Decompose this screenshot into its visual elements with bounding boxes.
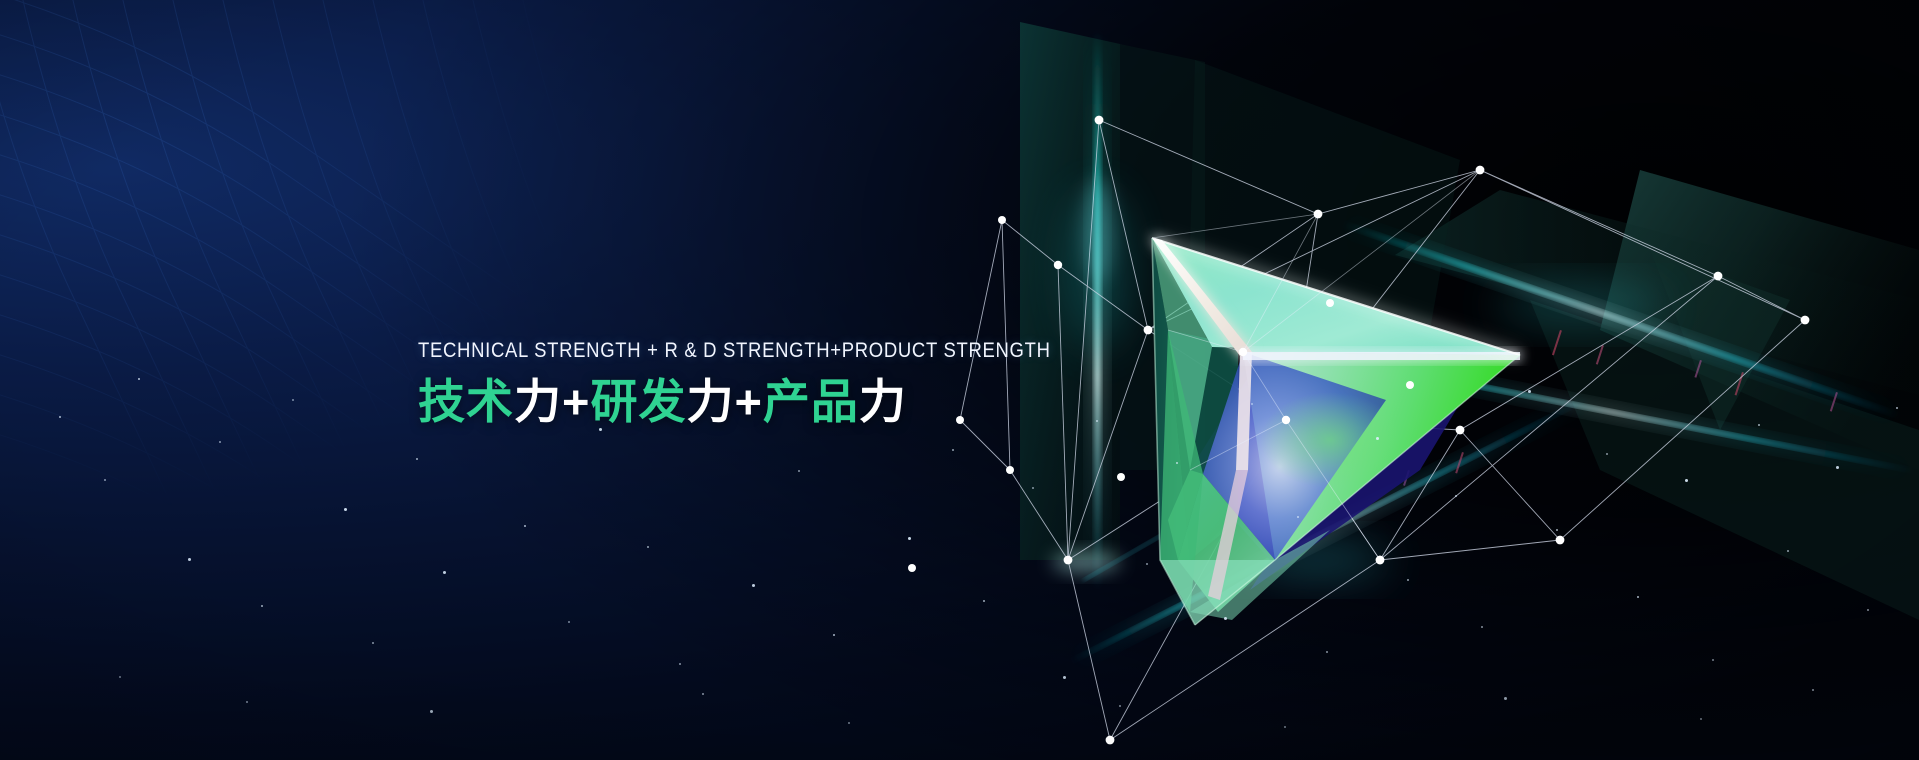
hero-banner: TECHNICAL STRENGTH + R & D STRENGTH+PROD… [0, 0, 1919, 760]
headline-chinese-segment: 力 [859, 375, 907, 428]
headline-chinese: 技术力+研发力+产品力 [418, 376, 1178, 429]
headline-chinese-segment: 力 [514, 375, 562, 428]
headline-chinese-segment: + [734, 375, 762, 428]
headline-block: TECHNICAL STRENGTH + R & D STRENGTH+PROD… [418, 340, 1178, 428]
headline-english: TECHNICAL STRENGTH + R & D STRENGTH+PROD… [418, 340, 1072, 362]
headline-chinese-segment: 力 [686, 375, 734, 428]
headline-chinese-segment: + [562, 375, 590, 428]
headline-chinese-segment: 研发 [590, 375, 686, 428]
headline-chinese-segment: 技术 [418, 375, 514, 428]
headline-chinese-segment: 产品 [763, 375, 859, 428]
